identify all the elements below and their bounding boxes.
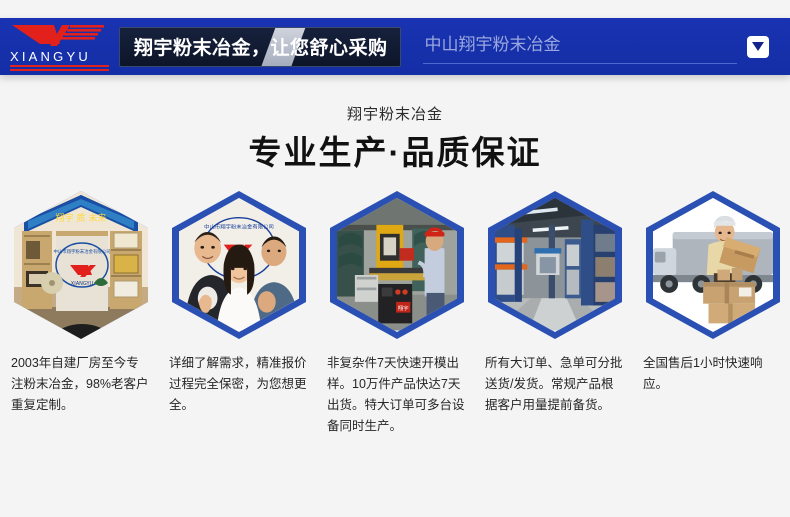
xiangyu-v-mark-icon	[10, 24, 106, 48]
feature-card[interactable]: 翔宇 非复杂件7天快速开模出样。10万件产品快达7天出货。特大订单可多台设备同时…	[318, 191, 476, 437]
hexagon-inner: 翔宇 质 未来 中山市翔宇粉末冶金有限公司	[14, 191, 148, 339]
factory-machine-worker-photo: 翔宇	[337, 198, 457, 331]
logo-wordmark: XIANGYU	[10, 50, 106, 63]
svg-text:中山市翔宇粉末冶金有限公司: 中山市翔宇粉末冶金有限公司	[53, 248, 110, 255]
hexagon-image-frame	[488, 191, 622, 339]
hexagon-shape: 中山市翔宇粉末冶金有限公司 XIA	[172, 191, 306, 339]
feature-card[interactable]: 中山市翔宇粉末冶金有限公司 XIA	[160, 191, 318, 437]
slogan-plate: 翔宇粉末冶金，让您舒心采购	[119, 27, 401, 67]
hexagon-shape	[646, 191, 780, 339]
hexagon-shape: 翔宇	[330, 191, 464, 339]
svg-text:翔宇: 翔宇	[398, 304, 409, 312]
hexagon-image-frame: 中山市翔宇粉末冶金有限公司 XIA	[172, 191, 306, 339]
hexagon-inner	[495, 198, 615, 332]
feature-card[interactable]: 全国售后1小时快速响应。	[634, 191, 790, 437]
slogan-text: 翔宇粉末冶金，让您舒心采购	[134, 33, 388, 60]
hero-title: 专业生产·品质保证	[0, 133, 790, 173]
svg-text:翔宇 质 未来: 翔宇 质 未来	[56, 212, 107, 224]
feature-card-caption: 全国售后1小时快速响应。	[643, 353, 783, 395]
warehouse-shelving-photo	[495, 198, 615, 331]
hexagon-image-frame: 翔宇	[330, 191, 464, 339]
feature-card[interactable]: 翔宇 质 未来 中山市翔宇粉末冶金有限公司	[2, 191, 160, 437]
site-header: XIANGYU 翔宇粉末冶金，让您舒心采购	[0, 18, 790, 75]
search-input[interactable]	[423, 30, 737, 64]
showroom-display-photo: 翔宇 质 未来 中山市翔宇粉末冶金有限公司	[14, 191, 148, 339]
hexagon-inner: 中山市翔宇粉末冶金有限公司 XIA	[179, 198, 299, 332]
feature-card-caption: 详细了解需求，精准报价过程完全保密，为您想更全。	[169, 353, 309, 416]
feature-card-list: 翔宇 质 未来 中山市翔宇粉末冶金有限公司	[0, 191, 790, 437]
hero-headings: 翔宇粉末冶金 专业生产·品质保证	[0, 75, 790, 173]
chevron-down-icon	[752, 42, 764, 51]
logo-rule-top	[10, 65, 109, 67]
brand-logo[interactable]: XIANGYU	[4, 22, 112, 72]
logo-rule-bottom	[10, 69, 109, 71]
svg-text:XIANGYU: XIANGYU	[71, 281, 94, 287]
dropdown-toggle-button[interactable]	[747, 36, 769, 58]
feature-card[interactable]: 所有大订单、急单可分批送货/发货。常规产品根据客户用量提前备货。	[476, 191, 634, 437]
hexagon-inner: 翔宇	[337, 198, 457, 332]
page-content: 翔宇粉末冶金 专业生产·品质保证 翔宇 质 未来	[0, 75, 790, 517]
top-strip	[0, 0, 790, 18]
hexagon-shape: 翔宇 质 未来 中山市翔宇粉末冶金有限公司	[14, 191, 148, 339]
hexagon-image-frame	[646, 191, 780, 339]
hexagon-shape	[488, 191, 622, 339]
customers-thumbs-up-photo: 中山市翔宇粉末冶金有限公司 XIA	[179, 198, 299, 331]
delivery-truck-boxes-photo	[653, 198, 773, 331]
hero-subtitle: 翔宇粉末冶金	[0, 106, 790, 124]
hexagon-inner	[653, 198, 773, 332]
feature-card-caption: 所有大订单、急单可分批送货/发货。常规产品根据客户用量提前备货。	[485, 353, 625, 416]
search-field-wrapper	[423, 28, 737, 66]
hexagon-image-frame: 翔宇 质 未来 中山市翔宇粉末冶金有限公司	[14, 191, 148, 339]
feature-card-caption: 2003年自建厂房至今专注粉末冶金，98%老客户重复定制。	[11, 353, 151, 416]
feature-card-caption: 非复杂件7天快速开模出样。10万件产品快达7天出货。特大订单可多台设备同时生产。	[327, 353, 467, 437]
svg-text:中山市翔宇粉末冶金有限公司: 中山市翔宇粉末冶金有限公司	[204, 222, 274, 230]
